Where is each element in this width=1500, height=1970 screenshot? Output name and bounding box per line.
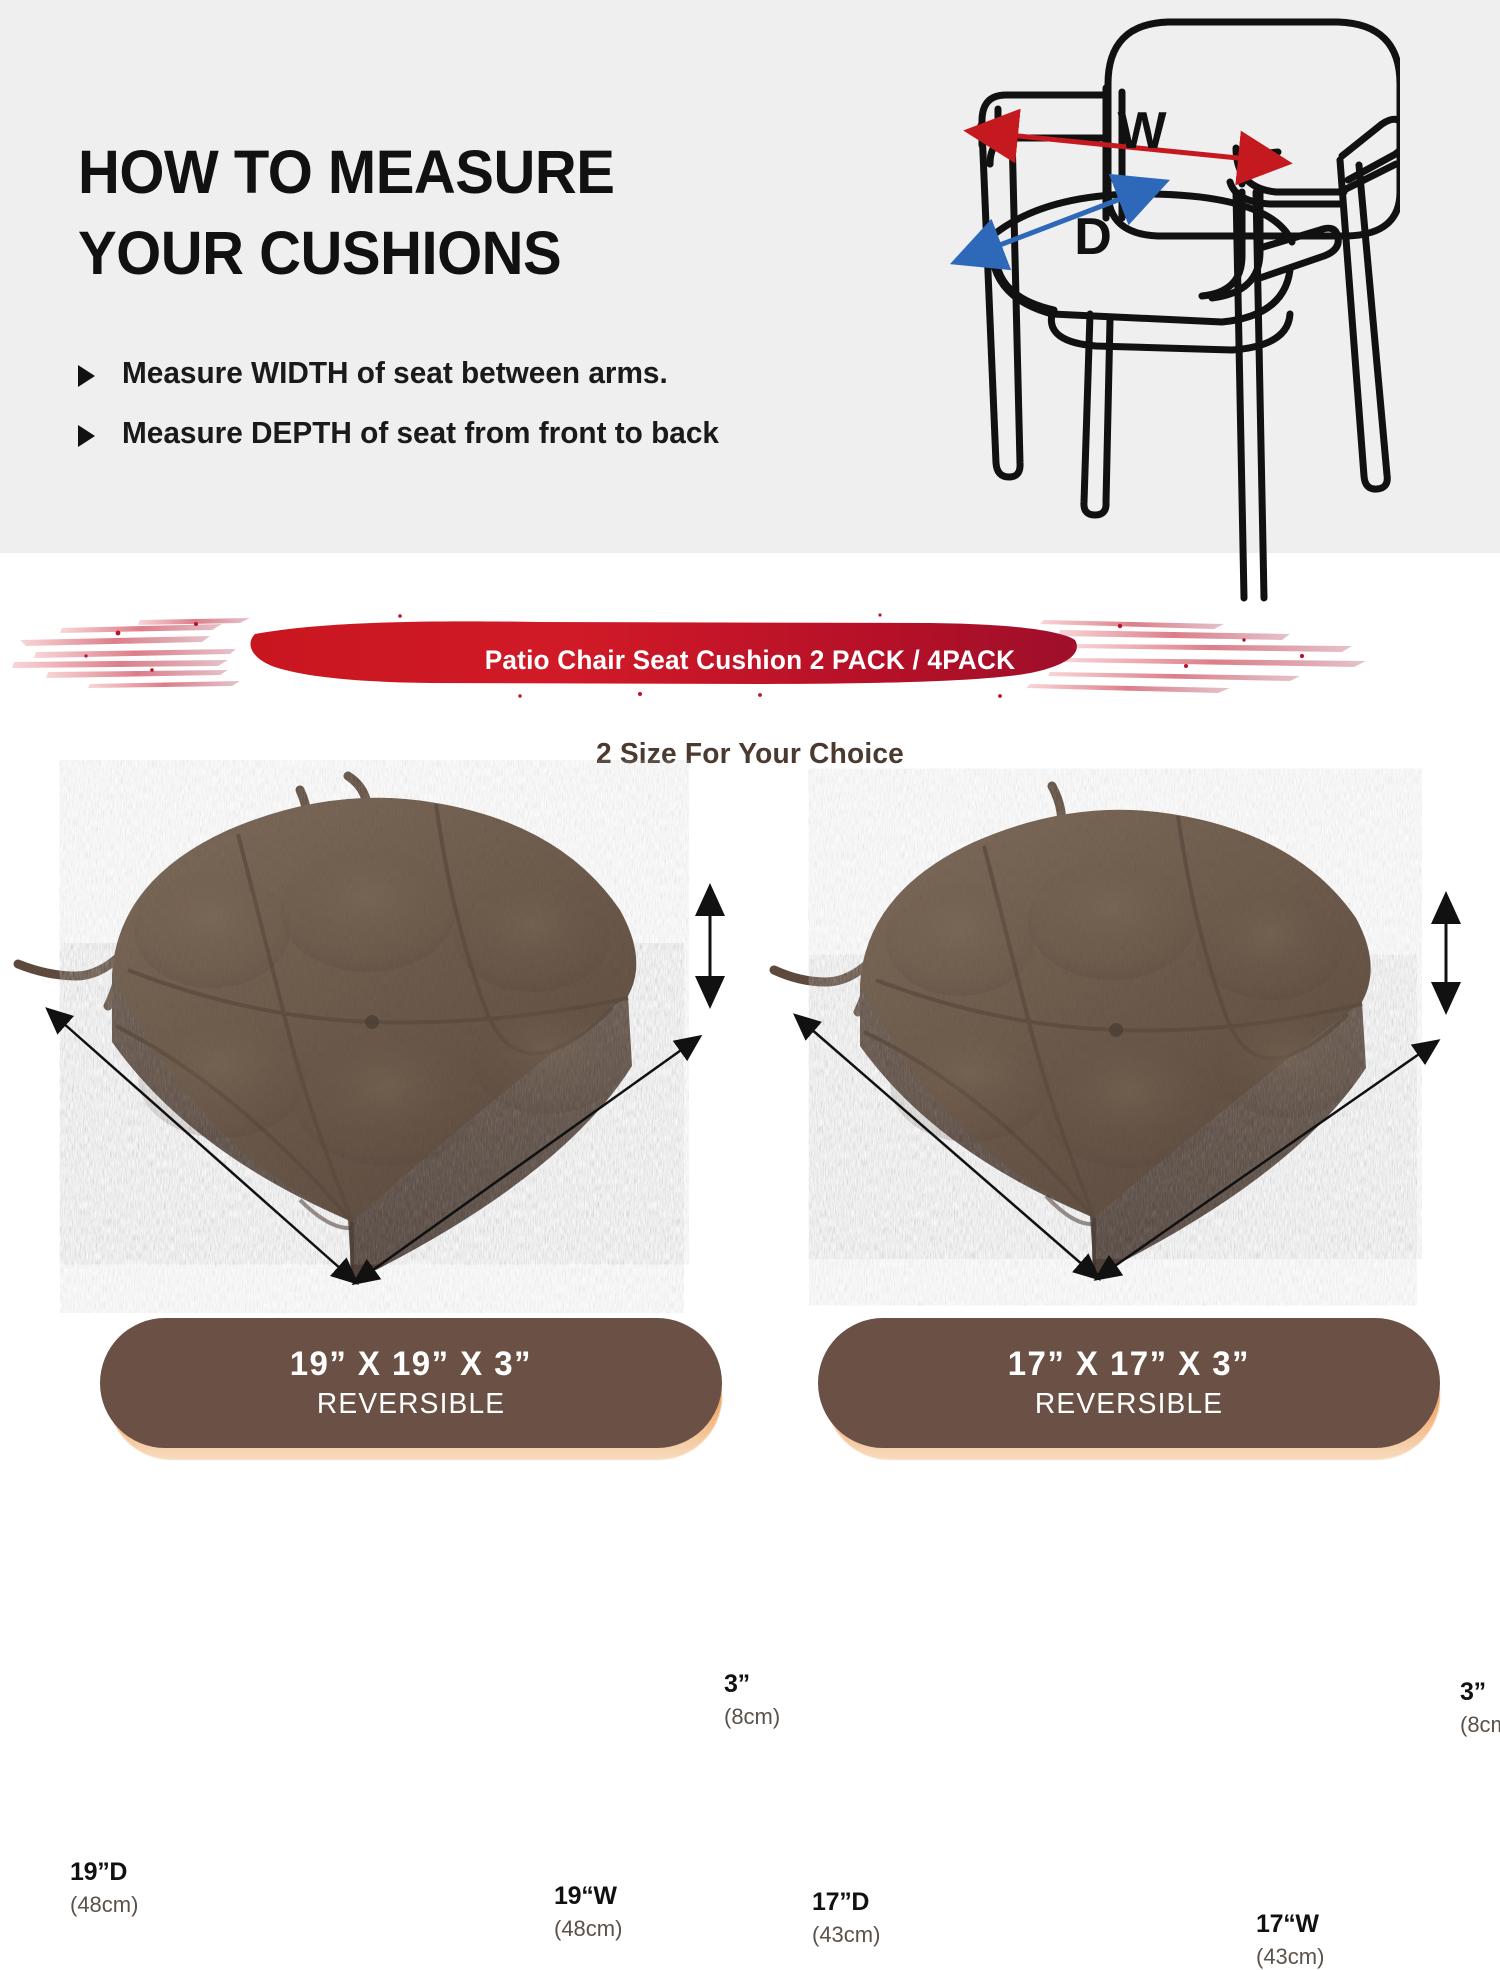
thickness-label-19: 3” (8cm) [724, 1670, 780, 1730]
size-option-subtitle: REVERSIBLE [317, 1390, 505, 1419]
header-text-block: HOW TO MEASURE YOUR CUSHIONS Measure WID… [78, 132, 868, 476]
instruction-label: Measure DEPTH of seat from front to back [122, 416, 719, 450]
tuft-button [1109, 1023, 1123, 1037]
cushion-illustration-19 [0, 760, 760, 1320]
depth-label: D [1074, 208, 1112, 266]
width-label-19: 19“W (48cm) [554, 1882, 622, 1942]
instruction-item-depth: Measure DEPTH of seat from front to back [78, 416, 868, 450]
page-title: HOW TO MEASURE YOUR CUSHIONS [78, 132, 829, 294]
cushion-illustration-17 [760, 760, 1500, 1320]
size-option-subtitle: REVERSIBLE [1035, 1390, 1223, 1419]
thickness-label-17: 3” (8cm) [1460, 1678, 1500, 1738]
thickness-cm: (8cm) [1460, 1712, 1500, 1738]
instruction-list: Measure WIDTH of seat between arms. Meas… [78, 356, 868, 450]
tuft-button [365, 1015, 379, 1029]
thickness-inches: 3” [724, 1670, 780, 1699]
page-title-line-2: YOUR CUSHIONS [78, 213, 829, 294]
width-label: W [1117, 102, 1167, 160]
size-option-dimensions: 19” X 19” X 3” [290, 1347, 532, 1381]
depth-inches: 17”D [812, 1888, 880, 1917]
size-option-pill-17[interactable]: 17” X 17” X 3” REVERSIBLE [818, 1318, 1440, 1448]
triangle-bullet-icon [78, 365, 95, 387]
depth-cm: (43cm) [812, 1922, 880, 1948]
depth-cm: (48cm) [70, 1892, 138, 1918]
thickness-cm: (8cm) [724, 1704, 780, 1730]
size-option-17[interactable]: 17” X 17” X 3” REVERSIBLE [818, 1318, 1448, 1460]
size-option-dimensions: 17” X 17” X 3” [1008, 1347, 1250, 1381]
header-panel: HOW TO MEASURE YOUR CUSHIONS Measure WID… [0, 0, 1500, 553]
thickness-inches: 3” [1460, 1678, 1500, 1707]
triangle-bullet-icon [78, 425, 95, 447]
size-option-19[interactable]: 19” X 19” X 3” REVERSIBLE [100, 1318, 730, 1460]
depth-label-19: 19”D (48cm) [70, 1858, 138, 1918]
width-inches: 19“W [554, 1882, 622, 1911]
width-label-17: 17“W (43cm) [1256, 1910, 1324, 1970]
instruction-item-width: Measure WIDTH of seat between arms. [78, 356, 868, 390]
instruction-label: Measure WIDTH of seat between arms. [122, 356, 668, 390]
width-cm: (43cm) [1256, 1944, 1324, 1970]
width-inches: 17“W [1256, 1910, 1324, 1939]
depth-inches: 19”D [70, 1858, 138, 1887]
page-title-line-1: HOW TO MEASURE [78, 132, 829, 213]
size-option-pill-19[interactable]: 19” X 19” X 3” REVERSIBLE [100, 1318, 722, 1448]
chair-diagram: W D [930, 0, 1400, 606]
width-cm: (48cm) [554, 1916, 622, 1942]
banner-title: Patio Chair Seat Cushion 2 PACK / 4PACK [23, 645, 1478, 676]
depth-label-17: 17”D (43cm) [812, 1888, 880, 1948]
